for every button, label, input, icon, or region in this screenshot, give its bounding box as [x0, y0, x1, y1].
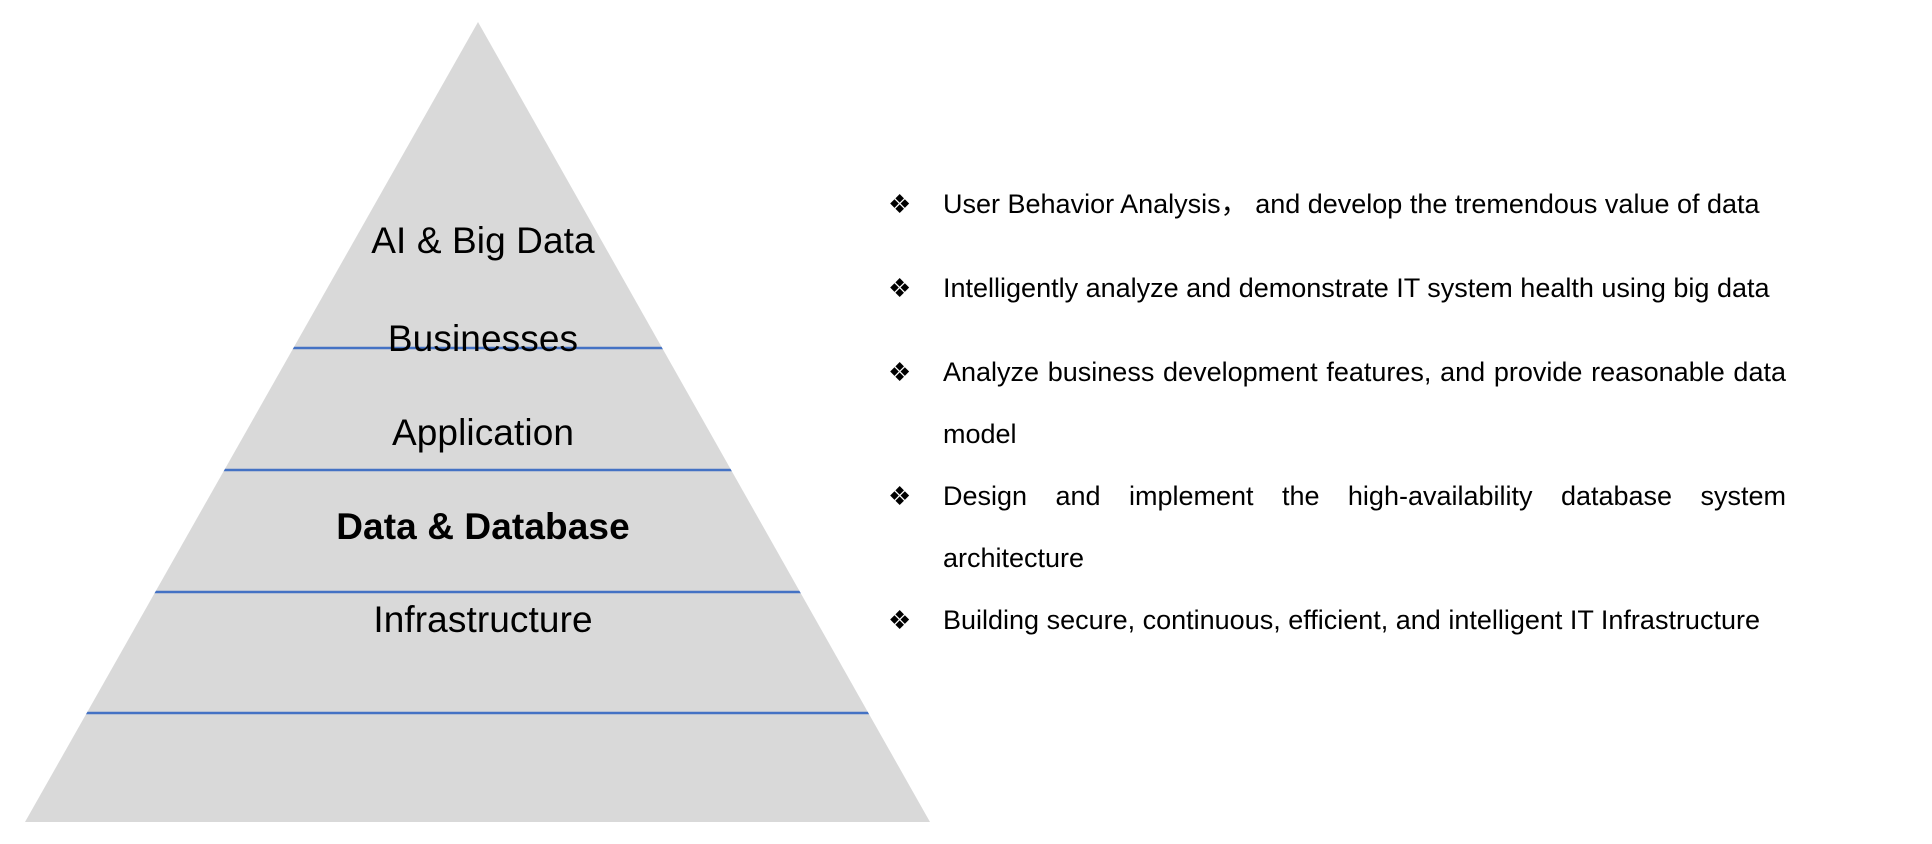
bullet-text-1-part-a: User Behavior Analysis	[943, 189, 1221, 219]
bullet-text-1: User Behavior Analysis，and develop the t…	[943, 184, 1902, 224]
bullet-item-2: ❖ Intelligently analyze and demonstrate …	[888, 268, 1902, 330]
bullet-text-1-comma: ，	[1221, 189, 1256, 219]
bullet-text-2: Intelligently analyze and demonstrate IT…	[943, 268, 1902, 308]
diamond-bullet-icon: ❖	[888, 268, 922, 308]
pyramid-diagram: AI & Big Data Businesses Application Dat…	[0, 0, 966, 844]
diamond-bullet-icon: ❖	[888, 184, 922, 224]
bullet-item-3: ❖ Analyze business development features,…	[888, 352, 1902, 454]
bullet-text-1-part-b: and develop the tremendous value of data	[1255, 189, 1759, 219]
capability-bullet-list: ❖ User Behavior Analysis，and develop the…	[888, 184, 1902, 662]
bullet-text-4-continuation: architecture	[943, 538, 1902, 578]
bullet-text-5: Building secure, continuous, efficient, …	[943, 600, 1902, 640]
pyramid-tier-label-ai-big-data: AI & Big Data	[0, 222, 966, 259]
pyramid-tier-label-infrastructure: Infrastructure	[0, 601, 966, 638]
slide-canvas: AI & Big Data Businesses Application Dat…	[0, 0, 1932, 844]
bullet-item-4: ❖ Design and implement the high-availabi…	[888, 476, 1902, 578]
pyramid-tier-label-application: Application	[0, 414, 966, 451]
diamond-bullet-icon: ❖	[888, 600, 922, 640]
bullet-text-4: Design and implement the high-availabili…	[943, 476, 1786, 516]
pyramid-tier-label-data-database: Data & Database	[0, 508, 966, 545]
bullet-item-5: ❖ Building secure, continuous, efficient…	[888, 600, 1902, 662]
pyramid-tier-label-businesses: Businesses	[0, 320, 966, 357]
diamond-bullet-icon: ❖	[888, 352, 922, 392]
diamond-bullet-icon: ❖	[888, 476, 922, 516]
bullet-text-3: Analyze business development features, a…	[943, 352, 1786, 392]
bullet-text-3-continuation: model	[943, 414, 1902, 454]
bullet-item-1: ❖ User Behavior Analysis，and develop the…	[888, 184, 1902, 246]
